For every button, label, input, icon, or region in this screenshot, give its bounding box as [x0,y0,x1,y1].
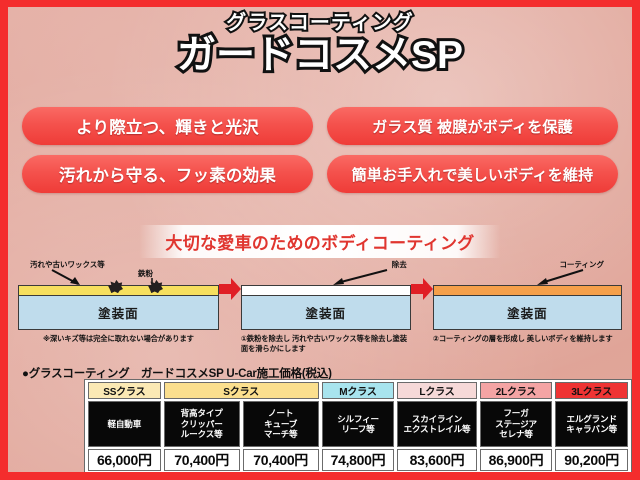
feature-pill-gloss[interactable]: より際立つ、輝きと光沢 [22,107,313,145]
model-cell-ss: 軽自動車 [88,401,161,447]
title-subtitle: グラスコーティング [8,13,632,33]
model-line: 軽自動車 [89,419,160,429]
feature-pill-label: ガラス質 被膜がボディを保護 [372,116,573,137]
model-cell-m: シルフィー リーフ等 [322,401,395,447]
class-header-s: Sクラス [164,382,319,399]
process-diagram: 汚れや古いワックス等 鉄粉 [18,259,622,357]
price-cell-s-a: 70,400円 [164,449,240,471]
model-line: マーチ等 [244,429,318,439]
model-line: キャラバン等 [556,424,627,434]
model-cell-l: スカイライン エクストレイル等 [397,401,476,447]
paint-stack-coated: 塗装面 [433,285,622,330]
paint-stack-dirty: 塗装面 [18,285,219,330]
process-step-3: コーティング 塗装面 ②コーティングの層を形成し 美しいボディを維持します [433,259,622,344]
model-line: スカイライン [398,414,475,424]
class-header-2l: 2Lクラス [480,382,553,399]
feature-pill-easy-care[interactable]: 簡単お手入れで美しいボディを維持 [327,155,618,193]
layer-wax [19,286,218,296]
model-line: エクストレイル等 [398,424,475,434]
model-line: クリッパー [165,419,239,429]
price-table-class-row: SSクラス Sクラス Mクラス Lクラス 2Lクラス 3Lクラス [88,382,628,399]
title-main: ガードコスメSP [8,35,632,77]
iron-powder-speck-icon [147,279,164,294]
callout-arrow-icon [433,259,629,285]
process-step-3-note: ②コーティングの層を形成し 美しいボディを維持します [433,334,622,344]
paint-surface-label: 塗装面 [98,303,139,322]
process-step-1-note: ※深いキズ等は完全に取れない場合があります [18,334,219,344]
ad-frame: グラスコーティング ガードコスメSP より際立つ、輝きと光沢 ガラス質 被膜がボ… [0,0,640,480]
paint-surface-label: 塗装面 [507,303,548,322]
model-cell-s-a: 背高タイプ クリッパー ルークス等 [164,401,240,447]
process-step-2-note: ①鉄粉を除去し 汚れや古いワックス等を除去し塗装面を滑らかにします [241,334,411,354]
feature-pill-glass-film[interactable]: ガラス質 被膜がボディを保護 [327,107,618,145]
price-table-price-row: 66,000円 70,400円 70,400円 74,800円 83,600円 … [88,449,628,471]
layer-paint-surface: 塗装面 [19,296,218,329]
model-line: ルークス等 [165,429,239,439]
feature-pill-label: より際立つ、輝きと光沢 [76,114,259,138]
paint-stack-cleaned: 塗装面 [241,285,411,330]
model-cell-3l: エルグランド キャラバン等 [555,401,628,447]
process-step-2-callouts: 除去 [241,259,411,285]
iron-powder-speck-icon [107,279,124,294]
model-line: 背高タイプ [165,408,239,418]
model-line: セレナ等 [481,429,552,439]
title-block: グラスコーティング ガードコスメSP [8,13,632,77]
model-line: フーガ [481,408,552,418]
ad-canvas: グラスコーティング ガードコスメSP より際立つ、輝きと光沢 ガラス質 被膜がボ… [8,7,632,472]
process-step-2: 除去 塗装面 ①鉄粉を除去し 汚れや古いワックス等を除去し塗装面を滑らかにします [241,259,411,354]
class-header-l: Lクラス [397,382,476,399]
price-table-wrap: SSクラス Sクラス Mクラス Lクラス 2Lクラス 3Lクラス 軽自動車 [84,379,632,472]
price-cell-ss: 66,000円 [88,449,161,471]
section-headline-label: 大切な愛車のためのボディコーティング [165,234,474,253]
model-line: エルグランド [556,414,627,424]
feature-pill-fluorine[interactable]: 汚れから守る、フッ素の効果 [22,155,313,193]
feature-pill-label: 汚れから守る、フッ素の効果 [59,162,276,186]
model-cell-2l: フーガ ステージア セレナ等 [480,401,553,447]
section-headline: 大切な愛車のためのボディコーティング [139,225,500,258]
price-cell-m: 74,800円 [322,449,395,471]
price-cell-s-b: 70,400円 [243,449,319,471]
process-step-1: 汚れや古いワックス等 鉄粉 [18,259,219,344]
layer-paint-surface: 塗装面 [434,296,621,329]
feature-pill-label: 簡単お手入れで美しいボディを維持 [352,164,594,185]
model-line: ステージア [481,419,552,429]
layer-coating [434,286,621,296]
class-header-m: Mクラス [322,382,395,399]
class-header-ss: SSクラス [88,382,161,399]
model-cell-s-b: ノート キューブ マーチ等 [243,401,319,447]
price-table: SSクラス Sクラス Mクラス Lクラス 2Lクラス 3Lクラス 軽自動車 [84,379,632,472]
callout-arrow-icon [241,259,417,285]
layer-clean [242,286,410,296]
model-line: シルフィー [323,414,394,424]
feature-pill-group: より際立つ、輝きと光沢 ガラス質 被膜がボディを保護 汚れから守る、フッ素の効果… [22,107,618,193]
model-line: キューブ [244,419,318,429]
price-table-model-row: 軽自動車 背高タイプ クリッパー ルークス等 ノート キューブ マーチ等 [88,401,628,447]
price-cell-l: 83,600円 [397,449,476,471]
model-line: ノート [244,408,318,418]
layer-paint-surface: 塗装面 [242,296,410,329]
paint-surface-label: 塗装面 [306,303,347,322]
model-line: リーフ等 [323,424,394,434]
price-cell-2l: 86,900円 [480,449,553,471]
process-step-3-callouts: コーティング [433,259,622,285]
price-cell-3l: 90,200円 [555,449,628,471]
class-header-3l: 3Lクラス [555,382,628,399]
